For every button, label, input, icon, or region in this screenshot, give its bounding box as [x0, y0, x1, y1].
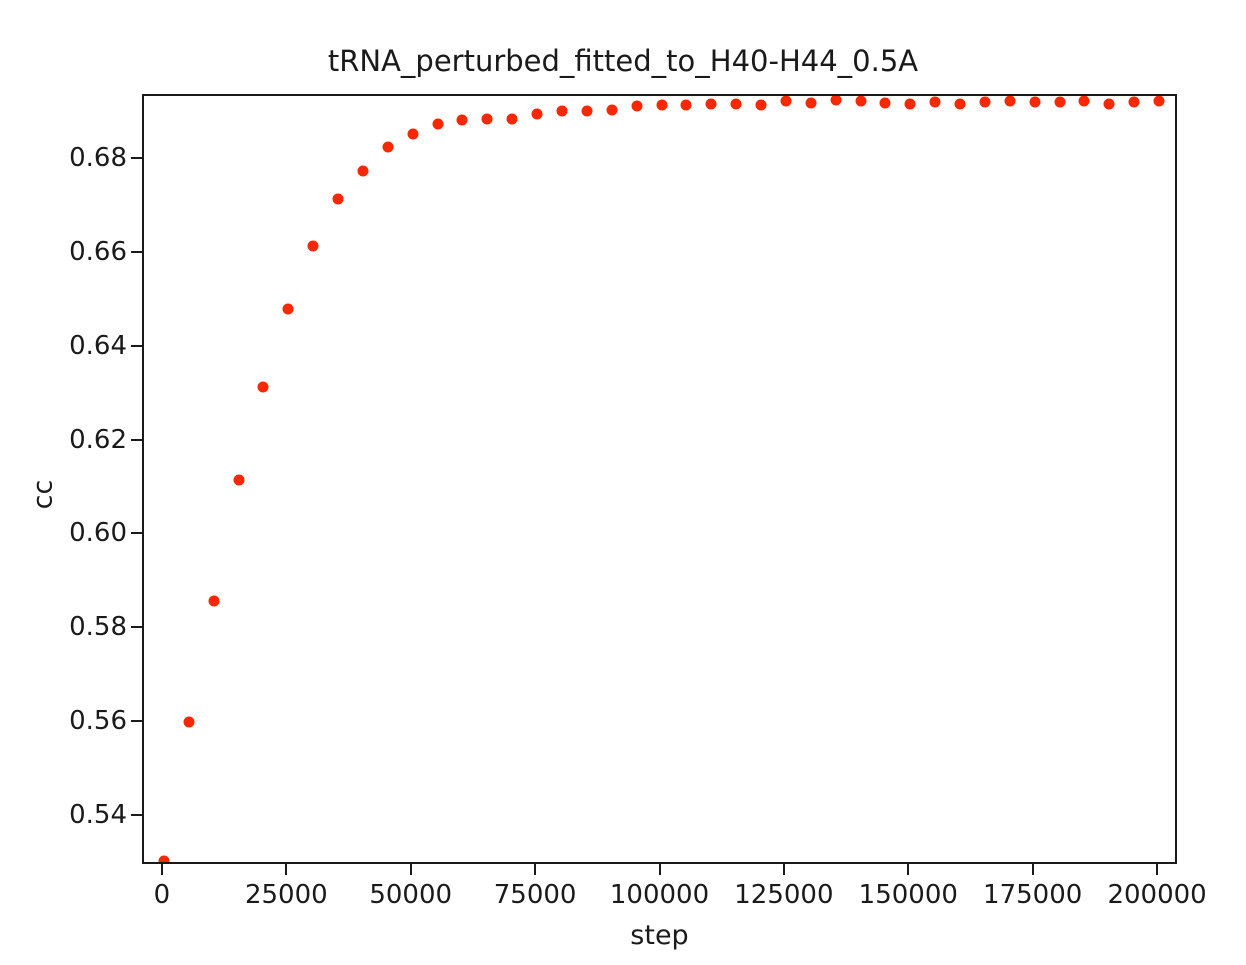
data-point [333, 193, 344, 204]
page-title: tRNA_perturbed_fitted_to_H40-H44_0.5A [0, 44, 1246, 78]
y-axis-tick-label: 0.56 [69, 706, 127, 736]
data-point [357, 166, 368, 177]
y-axis-tick [131, 345, 142, 347]
data-point [606, 105, 617, 116]
data-point [407, 128, 418, 139]
x-axis-tick-label: 125000 [734, 880, 833, 910]
x-axis-tick-label: 25000 [245, 880, 328, 910]
data-point [631, 100, 642, 111]
y-axis-tick-label: 0.60 [69, 518, 127, 548]
data-point [556, 106, 567, 117]
data-point [183, 717, 194, 728]
data-point [706, 99, 717, 110]
data-point [308, 241, 319, 252]
x-axis-tick [161, 864, 163, 875]
data-point [731, 99, 742, 110]
data-point [283, 304, 294, 315]
x-axis-tick-label: 75000 [494, 880, 577, 910]
data-point [1104, 98, 1115, 109]
data-point [1129, 96, 1140, 107]
data-point [432, 118, 443, 129]
x-axis-tick [783, 864, 785, 875]
y-axis-tick-label: 0.54 [69, 800, 127, 830]
data-point [507, 113, 518, 124]
x-axis-tick [907, 864, 909, 875]
data-point [233, 475, 244, 486]
y-axis-tick [131, 532, 142, 534]
x-axis-tick-label: 200000 [1107, 880, 1206, 910]
x-axis-tick-label: 0 [154, 880, 171, 910]
y-axis-tick [131, 157, 142, 159]
y-axis-tick-label: 0.66 [69, 237, 127, 267]
y-axis-tick-label: 0.68 [69, 143, 127, 173]
x-axis-tick-label: 50000 [369, 880, 452, 910]
data-point [880, 97, 891, 108]
data-point [258, 381, 269, 392]
x-axis-tick-label: 175000 [983, 880, 1082, 910]
data-point [1154, 96, 1165, 107]
data-point [756, 100, 767, 111]
scatter-series-cc [144, 96, 1175, 862]
data-point [780, 96, 791, 107]
data-point [457, 115, 468, 126]
y-axis-tick [131, 626, 142, 628]
data-point [979, 97, 990, 108]
x-axis-tick [285, 864, 287, 875]
data-point [382, 142, 393, 153]
y-axis-tick [131, 814, 142, 816]
plot-area [142, 94, 1177, 864]
data-point [1079, 95, 1090, 106]
data-point [805, 97, 816, 108]
x-axis-tick-label: 100000 [610, 880, 709, 910]
data-point [532, 108, 543, 119]
data-point [656, 99, 667, 110]
x-axis-tick [410, 864, 412, 875]
data-point [581, 105, 592, 116]
y-axis-tick [131, 439, 142, 441]
data-point [830, 95, 841, 106]
y-axis-tick [131, 720, 142, 722]
x-axis-tick-label: 150000 [859, 880, 958, 910]
x-axis-tick [534, 864, 536, 875]
y-axis-tick [131, 251, 142, 253]
data-point [1004, 95, 1015, 106]
y-axis-tick-label: 0.58 [69, 612, 127, 642]
x-axis-title: step [142, 920, 1177, 951]
data-point [482, 113, 493, 124]
data-point [955, 99, 966, 110]
y-axis-tick-label: 0.64 [69, 331, 127, 361]
x-axis-tick [659, 864, 661, 875]
data-point [905, 98, 916, 109]
data-point [930, 96, 941, 107]
data-point [158, 856, 169, 864]
data-point [855, 96, 866, 107]
data-point [208, 595, 219, 606]
data-point [1054, 97, 1065, 108]
figure-canvas: tRNA_perturbed_fitted_to_H40-H44_0.5A cc… [0, 0, 1246, 965]
y-axis-tick-label: 0.62 [69, 425, 127, 455]
data-point [681, 99, 692, 110]
data-point [1029, 96, 1040, 107]
y-axis-title: cc [28, 445, 59, 545]
x-axis-tick [1032, 864, 1034, 875]
x-axis-tick [1156, 864, 1158, 875]
